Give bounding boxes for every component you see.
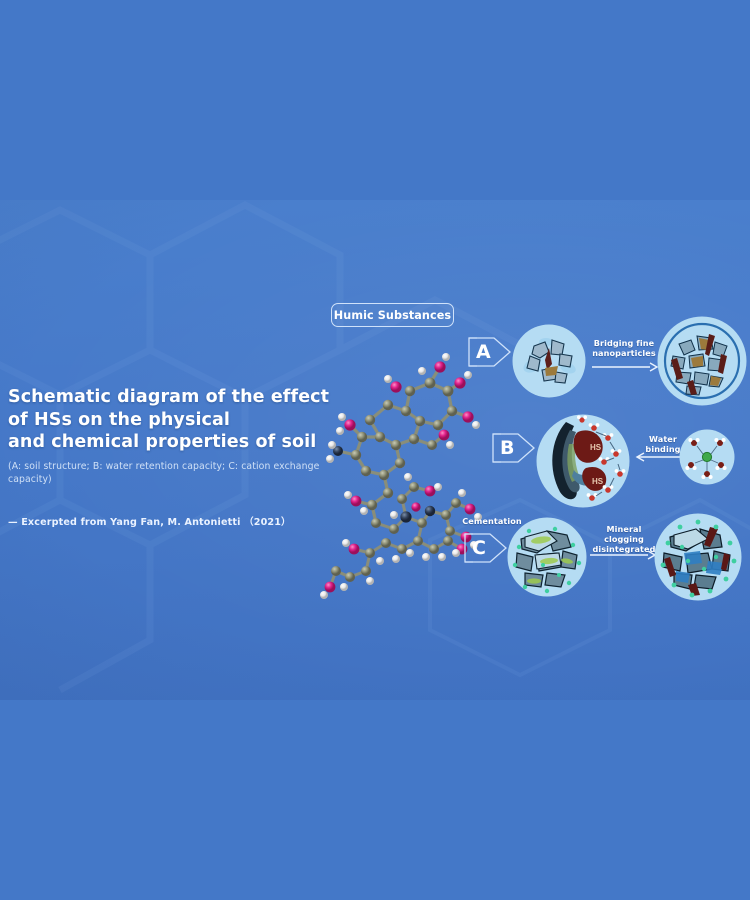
- circle-a-before: [512, 324, 586, 398]
- poster-canvas: Schematic diagram of the effect of HSs o…: [0, 0, 750, 900]
- hs-blob-label: HS: [592, 477, 604, 486]
- headline-block: Schematic diagram of the effect of HSs o…: [8, 386, 338, 528]
- pre-label-c: Cementation: [462, 516, 522, 526]
- humic-substances-label: Humic Substances: [331, 303, 454, 327]
- row-tag-c-letter: C: [463, 528, 509, 568]
- circle-c-after: [654, 513, 742, 601]
- title-line-3: and chemical properties of soil: [8, 431, 338, 454]
- arrow-c-right-icon: [590, 548, 656, 562]
- row-tag-b-letter: B: [491, 428, 537, 468]
- hs-blob-label: HS: [590, 443, 602, 452]
- title-line-1: Schematic diagram of the effect: [8, 386, 338, 409]
- page-title: Schematic diagram of the effect of HSs o…: [8, 386, 338, 454]
- process-label-a: Bridging fine nanoparticles: [592, 338, 656, 358]
- arrow-b-left-icon: [630, 450, 682, 464]
- source-credit: — Excerpted from Yang Fan, M. Antonietti…: [8, 514, 338, 528]
- circle-a-after: [657, 316, 747, 406]
- row-tag-a: A: [467, 332, 513, 372]
- row-tag-c: C: [463, 528, 509, 568]
- arrow-a-right-icon: [592, 360, 658, 374]
- title-line-2: of HSs on the physical: [8, 409, 338, 432]
- circle-b-soil-water: HS HS: [536, 414, 630, 508]
- row-tag-a-letter: A: [467, 332, 513, 372]
- circle-b-cation-hydration: [679, 429, 735, 485]
- row-tag-b: B: [491, 428, 537, 468]
- process-label-a-line2: nanoparticles: [592, 348, 656, 358]
- circle-c-before: [507, 517, 587, 597]
- process-label-a-line1: Bridging fine: [594, 338, 655, 348]
- subtitle-legend: (A: soil structure; B: water retention c…: [8, 460, 338, 486]
- process-label-c-line1: Mineral clogging: [604, 524, 644, 544]
